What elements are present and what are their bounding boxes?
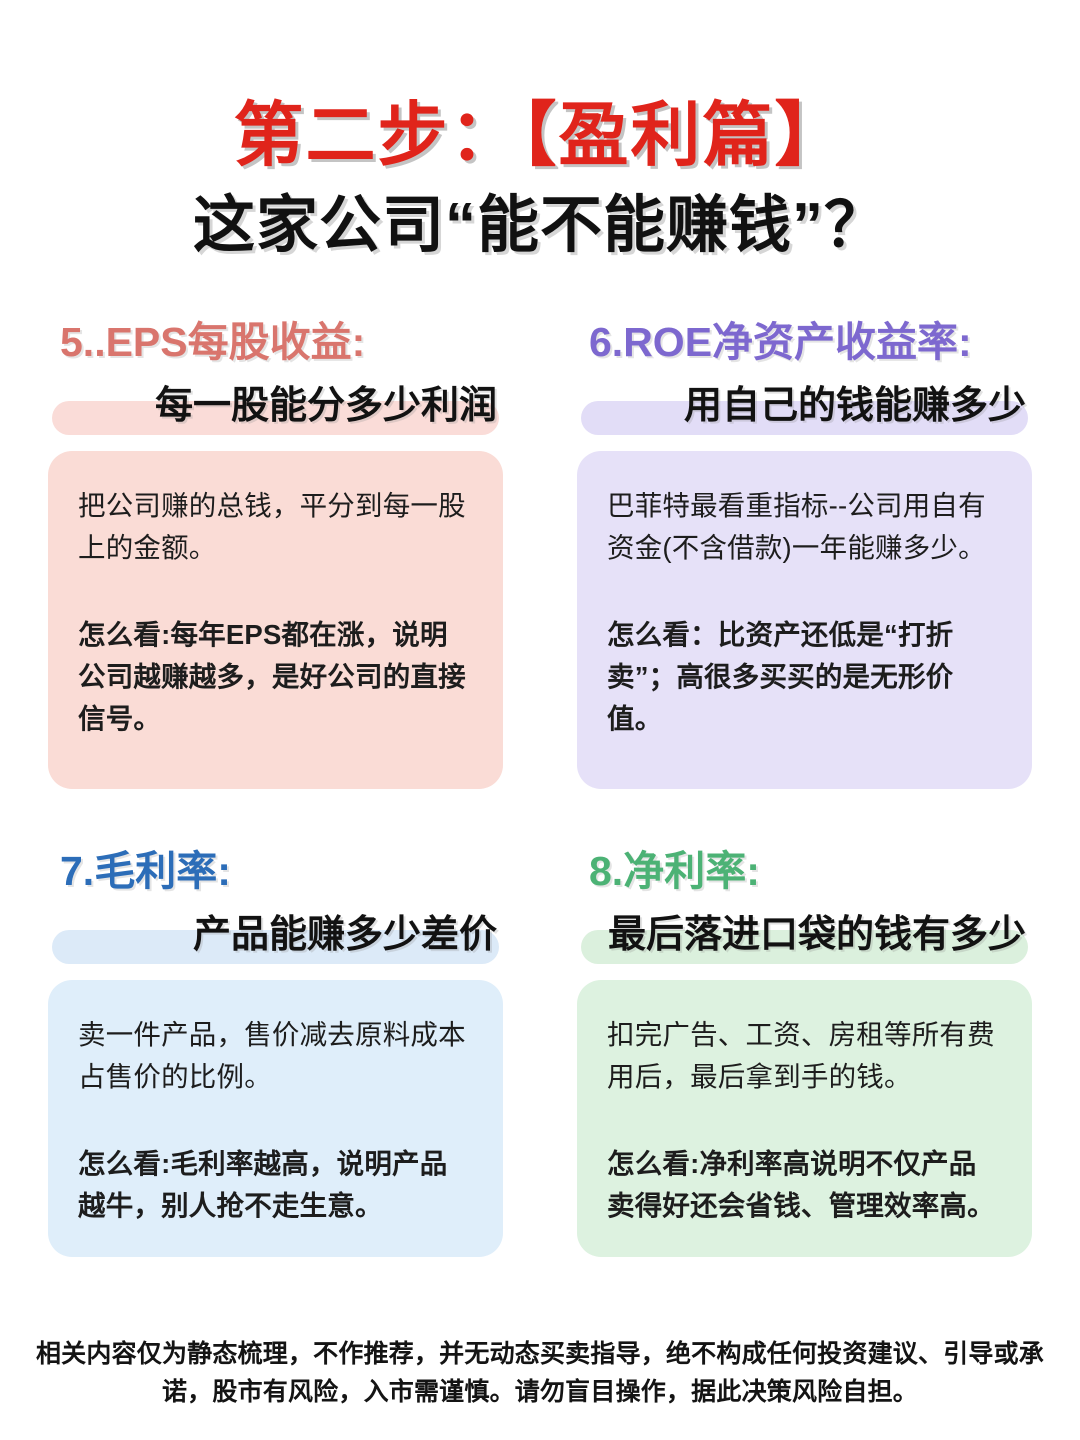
- page-title-sub: 这家公司“能不能赚钱”？: [0, 190, 1080, 261]
- metric-block-eps: 5..EPS每股收益: 每一股能分多少利润 把公司赚的总钱，平分到每一股上的金额…: [48, 320, 503, 789]
- header: 第二步：【盈利篇】 这家公司“能不能赚钱”？: [0, 0, 1080, 262]
- metric-description-gross-margin: 卖一件产品，售价减去原料成本占售价的比例。: [78, 1014, 473, 1098]
- metric-subtitle-wrap-gross-margin: 产品能赚多少差价: [48, 906, 503, 966]
- metric-subtitle-roe: 用自己的钱能赚多少: [577, 377, 1032, 435]
- metric-howto-eps: 怎么看:每年EPS都在涨，说明公司越赚越多，是好公司的直接信号。: [78, 614, 473, 739]
- metric-heading-gross-margin: 7.毛利率:: [60, 849, 503, 894]
- metric-heading-roe: 6.ROE净资产收益率:: [589, 320, 1032, 365]
- metric-subtitle-eps: 每一股能分多少利润: [48, 377, 503, 435]
- metric-card-eps: 把公司赚的总钱，平分到每一股上的金额。 怎么看:每年EPS都在涨，说明公司越赚越…: [48, 451, 503, 789]
- metric-block-gross-margin: 7.毛利率: 产品能赚多少差价 卖一件产品，售价减去原料成本占售价的比例。 怎么…: [48, 849, 503, 1257]
- metric-description-eps: 把公司赚的总钱，平分到每一股上的金额。: [78, 485, 473, 569]
- metric-subtitle-gross-margin: 产品能赚多少差价: [48, 906, 503, 964]
- metric-block-roe: 6.ROE净资产收益率: 用自己的钱能赚多少 巴菲特最看重指标--公司用自有资金…: [577, 320, 1032, 789]
- infographic-page: 第二步：【盈利篇】 这家公司“能不能赚钱”？ 5..EPS每股收益: 每一股能分…: [0, 0, 1080, 1440]
- metric-description-roe: 巴菲特最看重指标--公司用自有资金(不含借款)一年能赚多少。: [607, 485, 1002, 569]
- metric-card-roe: 巴菲特最看重指标--公司用自有资金(不含借款)一年能赚多少。 怎么看：比资产还低…: [577, 451, 1032, 789]
- metric-block-net-margin: 8.净利率: 最后落进口袋的钱有多少 扣完广告、工资、房租等所有费用后，最后拿到…: [577, 849, 1032, 1257]
- metric-subtitle-net-margin: 最后落进口袋的钱有多少: [577, 906, 1032, 964]
- metric-heading-eps: 5..EPS每股收益:: [60, 320, 503, 365]
- disclaimer-footer: 相关内容仅为静态梳理，不作推荐，并无动态买卖指导，绝不构成任何投资建议、引导或承…: [0, 1335, 1080, 1413]
- metric-heading-net-margin: 8.净利率:: [589, 849, 1032, 894]
- metric-grid: 5..EPS每股收益: 每一股能分多少利润 把公司赚的总钱，平分到每一股上的金额…: [0, 320, 1080, 1257]
- metric-howto-net-margin: 怎么看:净利率高说明不仅产品卖得好还会省钱、管理效率高。: [607, 1143, 1002, 1227]
- metric-howto-roe: 怎么看：比资产还低是“打折卖”；高很多买买的是无形价值。: [607, 614, 1002, 739]
- metric-subtitle-wrap-net-margin: 最后落进口袋的钱有多少: [577, 906, 1032, 966]
- metric-howto-gross-margin: 怎么看:毛利率越高，说明产品越牛，别人抢不走生意。: [78, 1143, 473, 1227]
- page-title-main: 第二步：【盈利篇】: [0, 96, 1080, 174]
- metric-subtitle-wrap-eps: 每一股能分多少利润: [48, 377, 503, 437]
- metric-card-net-margin: 扣完广告、工资、房租等所有费用后，最后拿到手的钱。 怎么看:净利率高说明不仅产品…: [577, 980, 1032, 1257]
- metric-card-gross-margin: 卖一件产品，售价减去原料成本占售价的比例。 怎么看:毛利率越高，说明产品越牛，别…: [48, 980, 503, 1257]
- metric-description-net-margin: 扣完广告、工资、房租等所有费用后，最后拿到手的钱。: [607, 1014, 1002, 1098]
- metric-subtitle-wrap-roe: 用自己的钱能赚多少: [577, 377, 1032, 437]
